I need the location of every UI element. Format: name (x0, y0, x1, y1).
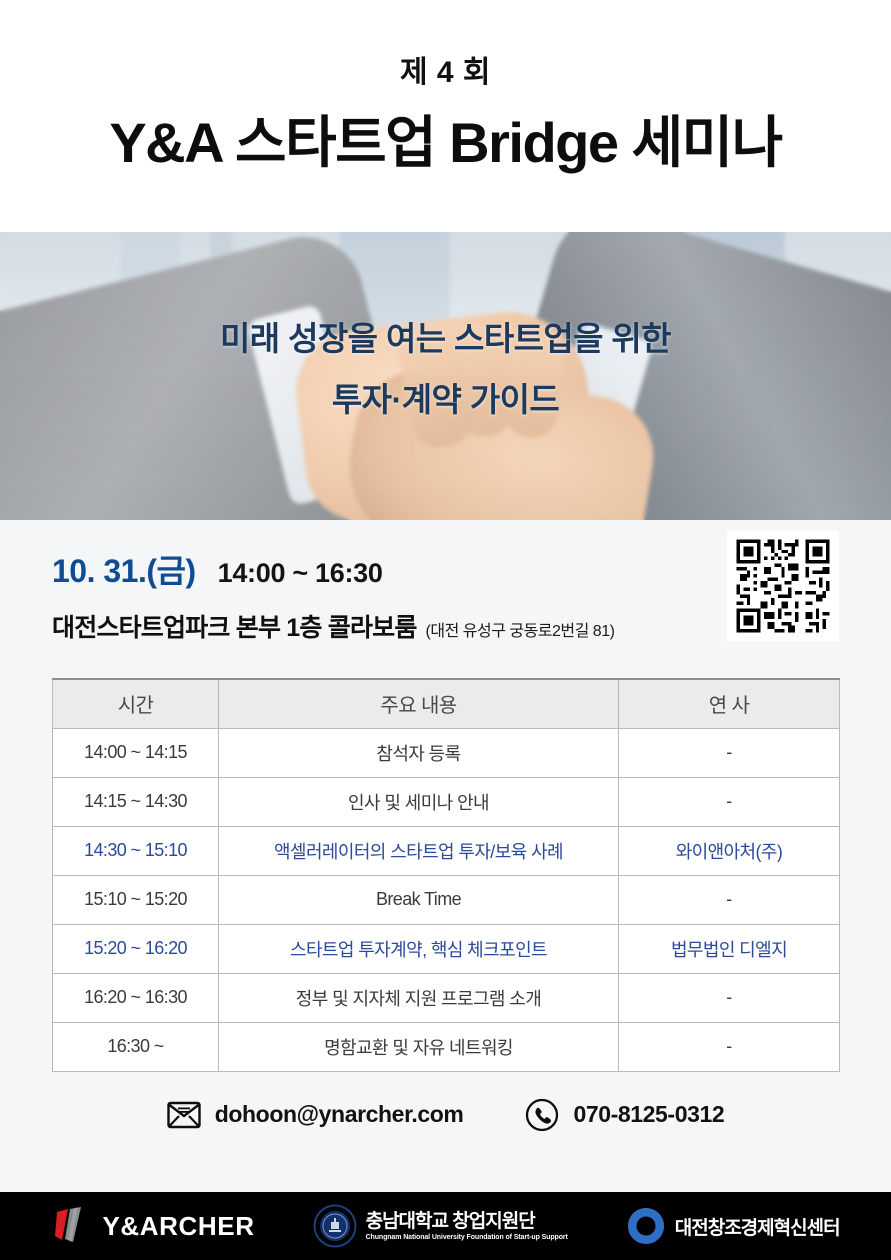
event-venue: 대전스타트업파크 본부 1층 콜라보룸 (52, 608, 417, 644)
cell-topic: 정부 및 지자체 지원 프로그램 소개 (219, 973, 619, 1022)
event-info: 10. 31.(금) 14:00 ~ 16:30 대전스타트업파크 본부 1층 … (0, 520, 891, 678)
date-time-row: 10. 31.(금) 14:00 ~ 16:30 (52, 546, 839, 592)
venue-row: 대전스타트업파크 본부 1층 콜라보룸 (대전 유성구 궁동로2번길 81) (52, 608, 839, 644)
schedule-section: 시간 주요 내용 연 사 14:00 ~ 14:15참석자 등록-14:15 ~… (0, 678, 891, 1072)
poster-title-block: 제 4 회 Y&A 스타트업 Bridge 세미나 (0, 0, 891, 232)
cell-topic: 참석자 등록 (219, 728, 619, 777)
phone-text: 070-8125-0312 (573, 1101, 724, 1128)
cell-speaker: - (619, 973, 840, 1022)
cell-speaker: - (619, 777, 840, 826)
table-row: 16:30 ~명함교환 및 자유 네트워킹- (53, 1022, 840, 1071)
logo-cnu-en: Chungnam National University Foundation … (366, 1234, 568, 1241)
event-time: 14:00 ~ 16:30 (218, 558, 383, 589)
email-text: dohoon@ynarcher.com (215, 1101, 464, 1128)
table-row: 15:10 ~ 15:20Break Time- (53, 875, 840, 924)
column-header-speaker: 연 사 (619, 679, 840, 728)
column-header-time: 시간 (53, 679, 219, 728)
footer-logo-bar: Y&ARCHER 충남대학교 창업지원단 Chungnam National U… (0, 1192, 891, 1260)
hero-subtitle: 미래 성장을 여는 스타트업을 위한 투자·계약 가이드 (0, 308, 891, 430)
cell-time: 15:20 ~ 16:20 (53, 924, 219, 973)
logo-yarcher-text: Y&ARCHER (102, 1211, 254, 1242)
event-date: 10. 31.(금) (52, 546, 196, 592)
qr-code[interactable] (727, 531, 839, 641)
cell-speaker: - (619, 875, 840, 924)
phone-icon (525, 1098, 559, 1132)
cell-speaker: 법무법인 디엘지 (619, 924, 840, 973)
logo-cnu: 충남대학교 창업지원단 Chungnam National University… (313, 1204, 568, 1248)
cell-topic: Break Time (219, 875, 619, 924)
cell-topic: 스타트업 투자계약, 핵심 체크포인트 (219, 924, 619, 973)
cnu-emblem-icon (313, 1204, 357, 1248)
cell-speaker: - (619, 1022, 840, 1071)
logo-djcci: 대전창조경제혁신센터 (626, 1206, 840, 1246)
djcci-mark-icon (626, 1206, 666, 1246)
cell-topic: 액셀러레이터의 스타트업 투자/보육 사례 (219, 826, 619, 875)
cell-time: 15:10 ~ 15:20 (53, 875, 219, 924)
cell-topic: 명함교환 및 자유 네트워킹 (219, 1022, 619, 1071)
cell-time: 16:20 ~ 16:30 (53, 973, 219, 1022)
yarcher-mark-icon (51, 1206, 93, 1246)
cell-speaker: 와이앤아처(주) (619, 826, 840, 875)
cell-topic: 인사 및 세미나 안내 (219, 777, 619, 826)
cell-time: 14:00 ~ 14:15 (53, 728, 219, 777)
logo-djcci-text: 대전창조경제혁신센터 (675, 1213, 840, 1240)
hero-banner: 미래 성장을 여는 스타트업을 위한 투자·계약 가이드 (0, 232, 891, 520)
cell-time: 14:15 ~ 14:30 (53, 777, 219, 826)
table-row: 14:15 ~ 14:30인사 및 세미나 안내- (53, 777, 840, 826)
hero-subtitle-line2: 투자·계약 가이드 (0, 369, 891, 430)
table-row: 14:30 ~ 15:10액셀러레이터의 스타트업 투자/보육 사례와이앤아처(… (53, 826, 840, 875)
qr-code-icon (732, 536, 834, 636)
edition-label: 제 4 회 (400, 58, 491, 88)
contact-phone[interactable]: 070-8125-0312 (525, 1098, 724, 1132)
logo-cnu-kr: 충남대학교 창업지원단 (366, 1211, 535, 1232)
table-header-row: 시간 주요 내용 연 사 (53, 679, 840, 728)
table-row: 16:20 ~ 16:30정부 및 지자체 지원 프로그램 소개- (53, 973, 840, 1022)
cell-speaker: - (619, 728, 840, 777)
schedule-table: 시간 주요 내용 연 사 14:00 ~ 14:15참석자 등록-14:15 ~… (52, 678, 840, 1072)
page-title: Y&A 스타트업 Bridge 세미나 (109, 114, 781, 173)
cell-time: 14:30 ~ 15:10 (53, 826, 219, 875)
contact-email[interactable]: dohoon@ynarcher.com (167, 1101, 464, 1129)
event-address: (대전 유성구 궁동로2번길 81) (426, 617, 615, 641)
table-row: 14:00 ~ 14:15참석자 등록- (53, 728, 840, 777)
cell-time: 16:30 ~ (53, 1022, 219, 1071)
logo-yarcher: Y&ARCHER (51, 1206, 254, 1246)
hero-subtitle-line1: 미래 성장을 여는 스타트업을 위한 (0, 308, 891, 369)
column-header-topic: 주요 내용 (219, 679, 619, 728)
table-row: 15:20 ~ 16:20스타트업 투자계약, 핵심 체크포인트법무법인 디엘지 (53, 924, 840, 973)
contact-row: dohoon@ynarcher.com 070-8125-0312 (0, 1098, 891, 1132)
envelope-icon (167, 1101, 201, 1129)
